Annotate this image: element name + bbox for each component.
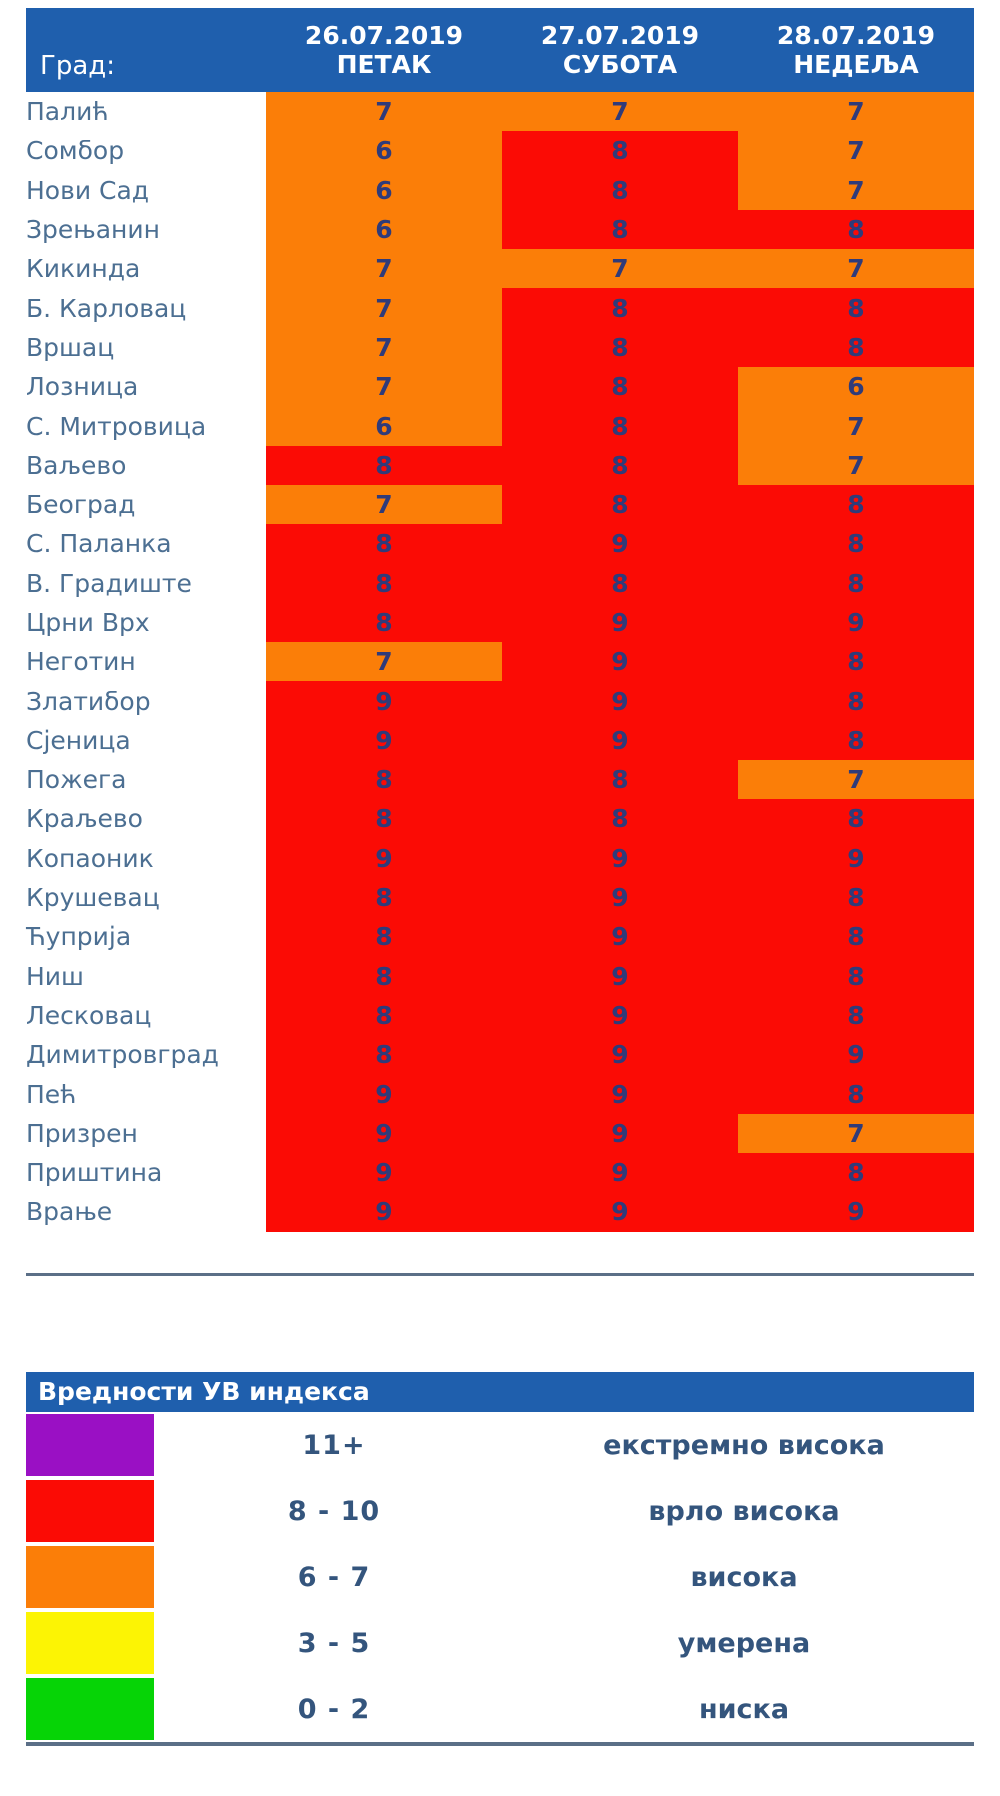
uv-value-cell: 8 bbox=[738, 957, 974, 996]
table-row: Сомбор687 bbox=[26, 131, 974, 170]
uv-value-cell: 7 bbox=[266, 288, 502, 327]
uv-value-cell: 7 bbox=[738, 760, 974, 799]
day-3-date: 28.07.2019 bbox=[738, 21, 974, 51]
table-row: Вршац788 bbox=[26, 328, 974, 367]
uv-value-cell: 9 bbox=[502, 839, 738, 878]
uv-value-cell: 8 bbox=[738, 878, 974, 917]
legend-range-label: 3 - 5 bbox=[154, 1610, 514, 1676]
legend-color-swatch bbox=[26, 1612, 154, 1674]
table-row: Б. Карловац788 bbox=[26, 288, 974, 327]
uv-value-cell: 9 bbox=[738, 603, 974, 642]
column-header-day-1: 26.07.2019 ПЕТАК bbox=[266, 8, 502, 92]
uv-value-cell: 8 bbox=[738, 681, 974, 720]
uv-value-cell: 8 bbox=[738, 210, 974, 249]
uv-value-cell: 7 bbox=[266, 367, 502, 406]
uv-value-cell: 8 bbox=[738, 328, 974, 367]
city-name-cell: Зрењанин bbox=[26, 210, 266, 249]
legend-range-label: 8 - 10 bbox=[154, 1478, 514, 1544]
legend-row: 11+екстремно висока bbox=[26, 1412, 974, 1478]
day-3-weekday: НЕДЕЉА bbox=[738, 50, 974, 80]
city-name-cell: Приштина bbox=[26, 1153, 266, 1192]
city-name-cell: Крушевац bbox=[26, 878, 266, 917]
legend-row: 8 - 10врло висока bbox=[26, 1478, 974, 1544]
city-name-cell: В. Градиште bbox=[26, 564, 266, 603]
uv-value-cell: 8 bbox=[266, 957, 502, 996]
legend-swatch-cell bbox=[26, 1412, 154, 1478]
uv-value-cell: 8 bbox=[502, 799, 738, 838]
legend-title: Вредности УВ индекса bbox=[26, 1372, 974, 1412]
city-name-cell: Ћуприја bbox=[26, 917, 266, 956]
uv-value-cell: 8 bbox=[266, 524, 502, 563]
uv-value-cell: 8 bbox=[502, 210, 738, 249]
uv-value-cell: 8 bbox=[738, 917, 974, 956]
uv-value-cell: 9 bbox=[738, 839, 974, 878]
uv-value-cell: 9 bbox=[502, 524, 738, 563]
legend-color-swatch bbox=[26, 1480, 154, 1542]
legend-body: 11+екстремно висока8 - 10врло висока6 - … bbox=[26, 1412, 974, 1742]
uv-value-cell: 7 bbox=[266, 328, 502, 367]
uv-value-cell: 8 bbox=[738, 799, 974, 838]
table-row: Лесковац898 bbox=[26, 996, 974, 1035]
table-row: Палић777 bbox=[26, 92, 974, 131]
day-1-weekday: ПЕТАК bbox=[266, 50, 502, 80]
uv-value-cell: 9 bbox=[502, 681, 738, 720]
uv-value-cell: 8 bbox=[738, 288, 974, 327]
table-row: Призрен997 bbox=[26, 1114, 974, 1153]
table-row: Краљево888 bbox=[26, 799, 974, 838]
uv-value-cell: 9 bbox=[266, 721, 502, 760]
table-row: С. Митровица687 bbox=[26, 406, 974, 445]
table-header: Град: 26.07.2019 ПЕТАК 27.07.2019 СУБОТА… bbox=[26, 8, 974, 92]
day-1-date: 26.07.2019 bbox=[266, 21, 502, 51]
city-name-cell: Београд bbox=[26, 485, 266, 524]
uv-forecast-table: Град: 26.07.2019 ПЕТАК 27.07.2019 СУБОТА… bbox=[26, 8, 974, 1232]
city-name-cell: Сјеница bbox=[26, 721, 266, 760]
uv-value-cell: 9 bbox=[738, 1192, 974, 1231]
city-name-cell: Лозница bbox=[26, 367, 266, 406]
city-name-cell: Пећ bbox=[26, 1074, 266, 1113]
uv-value-cell: 8 bbox=[502, 446, 738, 485]
uv-value-cell: 8 bbox=[738, 1153, 974, 1192]
city-name-cell: С. Митровица bbox=[26, 406, 266, 445]
uv-value-cell: 8 bbox=[502, 485, 738, 524]
table-row: С. Паланка898 bbox=[26, 524, 974, 563]
column-header-day-3: 28.07.2019 НЕДЕЉА bbox=[738, 8, 974, 92]
city-name-cell: Лесковац bbox=[26, 996, 266, 1035]
uv-value-cell: 8 bbox=[266, 446, 502, 485]
city-name-cell: Палић bbox=[26, 92, 266, 131]
city-name-cell: Димитровград bbox=[26, 1035, 266, 1074]
uv-value-cell: 7 bbox=[738, 171, 974, 210]
legend-row: 6 - 7висока bbox=[26, 1544, 974, 1610]
uv-value-cell: 9 bbox=[266, 1114, 502, 1153]
uv-value-cell: 8 bbox=[738, 642, 974, 681]
uv-value-cell: 9 bbox=[266, 681, 502, 720]
city-name-cell: Призрен bbox=[26, 1114, 266, 1153]
table-row: Неготин798 bbox=[26, 642, 974, 681]
city-name-cell: Ваљево bbox=[26, 446, 266, 485]
table-row: Врање999 bbox=[26, 1192, 974, 1231]
uv-value-cell: 9 bbox=[502, 917, 738, 956]
uv-value-cell: 8 bbox=[266, 799, 502, 838]
table-row: Приштина998 bbox=[26, 1153, 974, 1192]
uv-value-cell: 9 bbox=[502, 996, 738, 1035]
uv-value-cell: 8 bbox=[502, 367, 738, 406]
city-name-cell: Златибор bbox=[26, 681, 266, 720]
table-row: Златибор998 bbox=[26, 681, 974, 720]
table-row: Сјеница998 bbox=[26, 721, 974, 760]
uv-value-cell: 8 bbox=[738, 485, 974, 524]
table-row: Пећ998 bbox=[26, 1074, 974, 1113]
uv-value-cell: 8 bbox=[502, 760, 738, 799]
uv-value-cell: 7 bbox=[502, 249, 738, 288]
legend-swatch-cell bbox=[26, 1676, 154, 1742]
uv-value-cell: 8 bbox=[502, 171, 738, 210]
table-row: Димитровград899 bbox=[26, 1035, 974, 1074]
table-row: Црни Врх899 bbox=[26, 603, 974, 642]
uv-value-cell: 7 bbox=[738, 131, 974, 170]
table-row: Пожега887 bbox=[26, 760, 974, 799]
header-row: Град: 26.07.2019 ПЕТАК 27.07.2019 СУБОТА… bbox=[26, 8, 974, 92]
uv-value-cell: 9 bbox=[502, 1153, 738, 1192]
uv-value-cell: 9 bbox=[502, 957, 738, 996]
uv-value-cell: 8 bbox=[502, 131, 738, 170]
city-name-cell: Вршац bbox=[26, 328, 266, 367]
legend-bottom-rule bbox=[26, 1742, 974, 1746]
uv-value-cell: 8 bbox=[738, 1074, 974, 1113]
city-name-cell: Пожега bbox=[26, 760, 266, 799]
uv-value-cell: 7 bbox=[738, 406, 974, 445]
uv-value-cell: 8 bbox=[266, 996, 502, 1035]
table-row: Ћуприја898 bbox=[26, 917, 974, 956]
uv-value-cell: 8 bbox=[738, 996, 974, 1035]
day-2-weekday: СУБОТА bbox=[502, 50, 738, 80]
legend-description-label: ниска bbox=[514, 1676, 974, 1742]
uv-value-cell: 9 bbox=[502, 1074, 738, 1113]
legend-row: 0 - 2ниска bbox=[26, 1676, 974, 1742]
city-name-cell: Б. Карловац bbox=[26, 288, 266, 327]
uv-value-cell: 9 bbox=[266, 839, 502, 878]
uv-value-cell: 9 bbox=[502, 1035, 738, 1074]
city-name-cell: Краљево bbox=[26, 799, 266, 838]
uv-value-cell: 7 bbox=[266, 485, 502, 524]
table-row: Лозница786 bbox=[26, 367, 974, 406]
day-2-date: 27.07.2019 bbox=[502, 21, 738, 51]
legend-range-label: 6 - 7 bbox=[154, 1544, 514, 1610]
uv-value-cell: 8 bbox=[502, 288, 738, 327]
uv-value-cell: 7 bbox=[502, 92, 738, 131]
uv-value-cell: 7 bbox=[266, 92, 502, 131]
uv-value-cell: 9 bbox=[502, 642, 738, 681]
uv-forecast-table-container: Град: 26.07.2019 ПЕТАК 27.07.2019 СУБОТА… bbox=[26, 8, 974, 1232]
uv-value-cell: 6 bbox=[266, 171, 502, 210]
table-row: Нови Сад687 bbox=[26, 171, 974, 210]
legend-range-label: 0 - 2 bbox=[154, 1676, 514, 1742]
uv-value-cell: 9 bbox=[266, 1192, 502, 1231]
table-row: Кикинда777 bbox=[26, 249, 974, 288]
legend-color-swatch bbox=[26, 1678, 154, 1740]
uv-value-cell: 9 bbox=[502, 603, 738, 642]
city-name-cell: Црни Врх bbox=[26, 603, 266, 642]
uv-value-cell: 8 bbox=[266, 878, 502, 917]
uv-value-cell: 6 bbox=[266, 210, 502, 249]
column-header-day-2: 27.07.2019 СУБОТА bbox=[502, 8, 738, 92]
city-name-cell: Ниш bbox=[26, 957, 266, 996]
legend-description-label: врло висока bbox=[514, 1478, 974, 1544]
city-name-cell: Неготин bbox=[26, 642, 266, 681]
city-name-cell: Кикинда bbox=[26, 249, 266, 288]
city-name-cell: Сомбор bbox=[26, 131, 266, 170]
legend-swatch-cell bbox=[26, 1544, 154, 1610]
uv-value-cell: 8 bbox=[502, 406, 738, 445]
legend-color-swatch bbox=[26, 1414, 154, 1476]
table-row: Београд788 bbox=[26, 485, 974, 524]
uv-value-cell: 6 bbox=[266, 131, 502, 170]
uv-value-cell: 9 bbox=[266, 1153, 502, 1192]
legend-description-label: висока bbox=[514, 1544, 974, 1610]
uv-value-cell: 8 bbox=[502, 564, 738, 603]
uv-value-cell: 9 bbox=[266, 1074, 502, 1113]
uv-value-cell: 8 bbox=[266, 603, 502, 642]
table-row: Ваљево887 bbox=[26, 446, 974, 485]
table-body: Палић777Сомбор687Нови Сад687Зрењанин688К… bbox=[26, 92, 974, 1232]
uv-value-cell: 8 bbox=[738, 524, 974, 563]
uv-value-cell: 7 bbox=[738, 446, 974, 485]
uv-value-cell: 7 bbox=[266, 249, 502, 288]
uv-value-cell: 8 bbox=[738, 721, 974, 760]
uv-value-cell: 8 bbox=[738, 564, 974, 603]
legend-swatch-cell bbox=[26, 1610, 154, 1676]
legend-table: 11+екстремно висока8 - 10врло висока6 - … bbox=[26, 1412, 974, 1742]
uv-value-cell: 7 bbox=[738, 1114, 974, 1153]
table-row: В. Градиште888 bbox=[26, 564, 974, 603]
table-bottom-rule bbox=[26, 1273, 974, 1276]
uv-value-cell: 9 bbox=[502, 878, 738, 917]
uv-value-cell: 7 bbox=[738, 92, 974, 131]
city-name-cell: Врање bbox=[26, 1192, 266, 1231]
uv-value-cell: 9 bbox=[502, 1192, 738, 1231]
uv-value-cell: 7 bbox=[738, 249, 974, 288]
legend-swatch-cell bbox=[26, 1478, 154, 1544]
uv-value-cell: 9 bbox=[738, 1035, 974, 1074]
uv-value-cell: 6 bbox=[266, 406, 502, 445]
column-header-city: Град: bbox=[26, 8, 266, 92]
city-name-cell: Нови Сад bbox=[26, 171, 266, 210]
table-row: Копаоник999 bbox=[26, 839, 974, 878]
uv-value-cell: 8 bbox=[266, 1035, 502, 1074]
uv-value-cell: 6 bbox=[738, 367, 974, 406]
uv-value-cell: 9 bbox=[502, 721, 738, 760]
uv-value-cell: 8 bbox=[266, 917, 502, 956]
legend-color-swatch bbox=[26, 1546, 154, 1608]
table-row: Зрењанин688 bbox=[26, 210, 974, 249]
uv-value-cell: 8 bbox=[502, 328, 738, 367]
uv-legend: Вредности УВ индекса 11+екстремно висока… bbox=[26, 1372, 974, 1742]
legend-row: 3 - 5умерена bbox=[26, 1610, 974, 1676]
uv-value-cell: 8 bbox=[266, 564, 502, 603]
legend-range-label: 11+ bbox=[154, 1412, 514, 1478]
legend-description-label: умерена bbox=[514, 1610, 974, 1676]
city-name-cell: С. Паланка bbox=[26, 524, 266, 563]
legend-description-label: екстремно висока bbox=[514, 1412, 974, 1478]
uv-index-page: Град: 26.07.2019 ПЕТАК 27.07.2019 СУБОТА… bbox=[0, 0, 1000, 1796]
table-row: Ниш898 bbox=[26, 957, 974, 996]
uv-value-cell: 7 bbox=[266, 642, 502, 681]
uv-value-cell: 8 bbox=[266, 760, 502, 799]
table-row: Крушевац898 bbox=[26, 878, 974, 917]
city-name-cell: Копаоник bbox=[26, 839, 266, 878]
uv-value-cell: 9 bbox=[502, 1114, 738, 1153]
